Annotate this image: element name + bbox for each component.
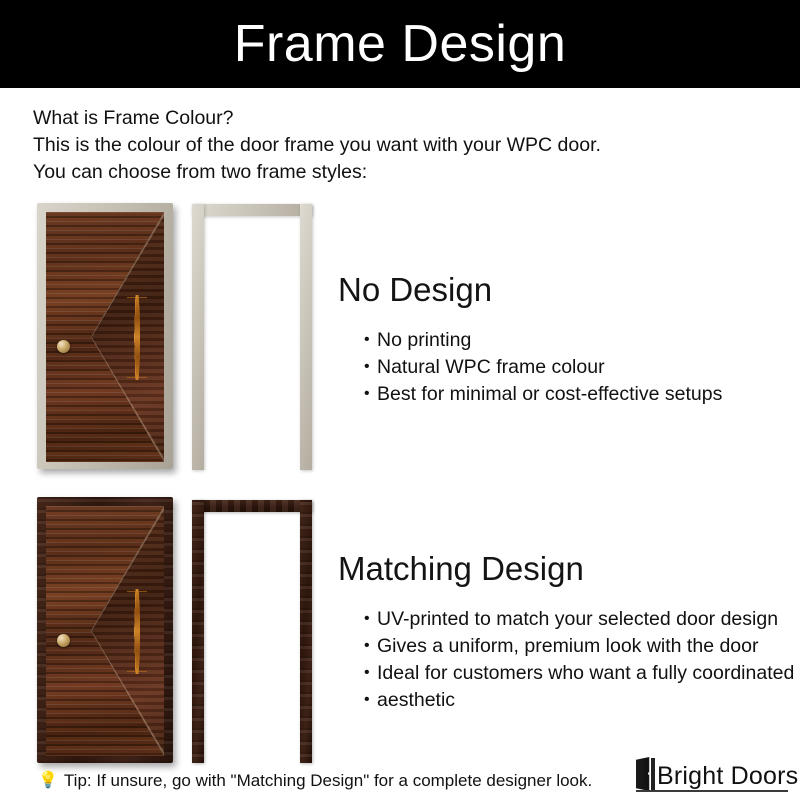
door-leaf [46, 506, 164, 756]
page-root: Frame Design What is Frame Colour? This … [0, 0, 800, 800]
section-no-design: No Design No printing Natural WPC frame … [338, 272, 788, 408]
door-ornament [127, 589, 147, 674]
frame-header-rail [192, 500, 312, 512]
frame-image-matching-design [192, 500, 312, 763]
section-title-no-design: No Design [338, 272, 788, 308]
lightbulb-icon: 💡 [38, 773, 58, 789]
list-item-continuation: aesthetic [364, 687, 798, 714]
intro-question: What is Frame Colour? [33, 105, 673, 132]
frame-header-rail [192, 204, 312, 216]
list-item: Best for minimal or cost-effective setup… [364, 381, 788, 408]
door-ornament [127, 295, 147, 380]
intro-prompt: You can choose from two frame styles: [33, 159, 673, 186]
door-frame-dark [37, 497, 173, 763]
frame-left-jamb [192, 500, 204, 763]
bullet-list-matching-design: UV-printed to match your selected door d… [338, 606, 798, 714]
door-knob-icon [57, 340, 70, 353]
tip-text: Tip: If unsure, go with "Matching Design… [64, 771, 592, 791]
page-title: Frame Design [234, 18, 567, 70]
bullet-list-no-design: No printing Natural WPC frame colour Bes… [338, 327, 788, 408]
list-item: Ideal for customers who want a fully coo… [364, 660, 798, 687]
brand-name: Bright Doors [657, 764, 798, 791]
list-item: Gives a uniform, premium look with the d… [364, 633, 798, 660]
list-item: Natural WPC frame colour [364, 354, 788, 381]
door-image-matching-design [37, 497, 173, 763]
brand-logo: Bright Doors [636, 757, 798, 791]
frame-right-jamb [300, 500, 312, 763]
section-matching-design: Matching Design UV-printed to match your… [338, 551, 798, 714]
door-jamb-icon [651, 758, 655, 791]
list-item: No printing [364, 327, 788, 354]
intro-description: This is the colour of the door frame you… [33, 132, 673, 159]
section-title-matching-design: Matching Design [338, 551, 798, 587]
tip-line: 💡 Tip: If unsure, go with "Matching Desi… [38, 771, 592, 791]
frame-image-no-design [192, 204, 312, 470]
door-frame-light [37, 203, 173, 469]
door-image-no-design [37, 203, 173, 469]
logo-underline [636, 790, 788, 792]
frame-right-jamb [300, 204, 312, 470]
frame-left-jamb [192, 204, 204, 470]
intro-block: What is Frame Colour? This is the colour… [33, 105, 673, 186]
door-knob-icon [57, 634, 70, 647]
list-item: UV-printed to match your selected door d… [364, 606, 798, 633]
door-leaf [46, 212, 164, 462]
header-bar: Frame Design [0, 0, 800, 88]
